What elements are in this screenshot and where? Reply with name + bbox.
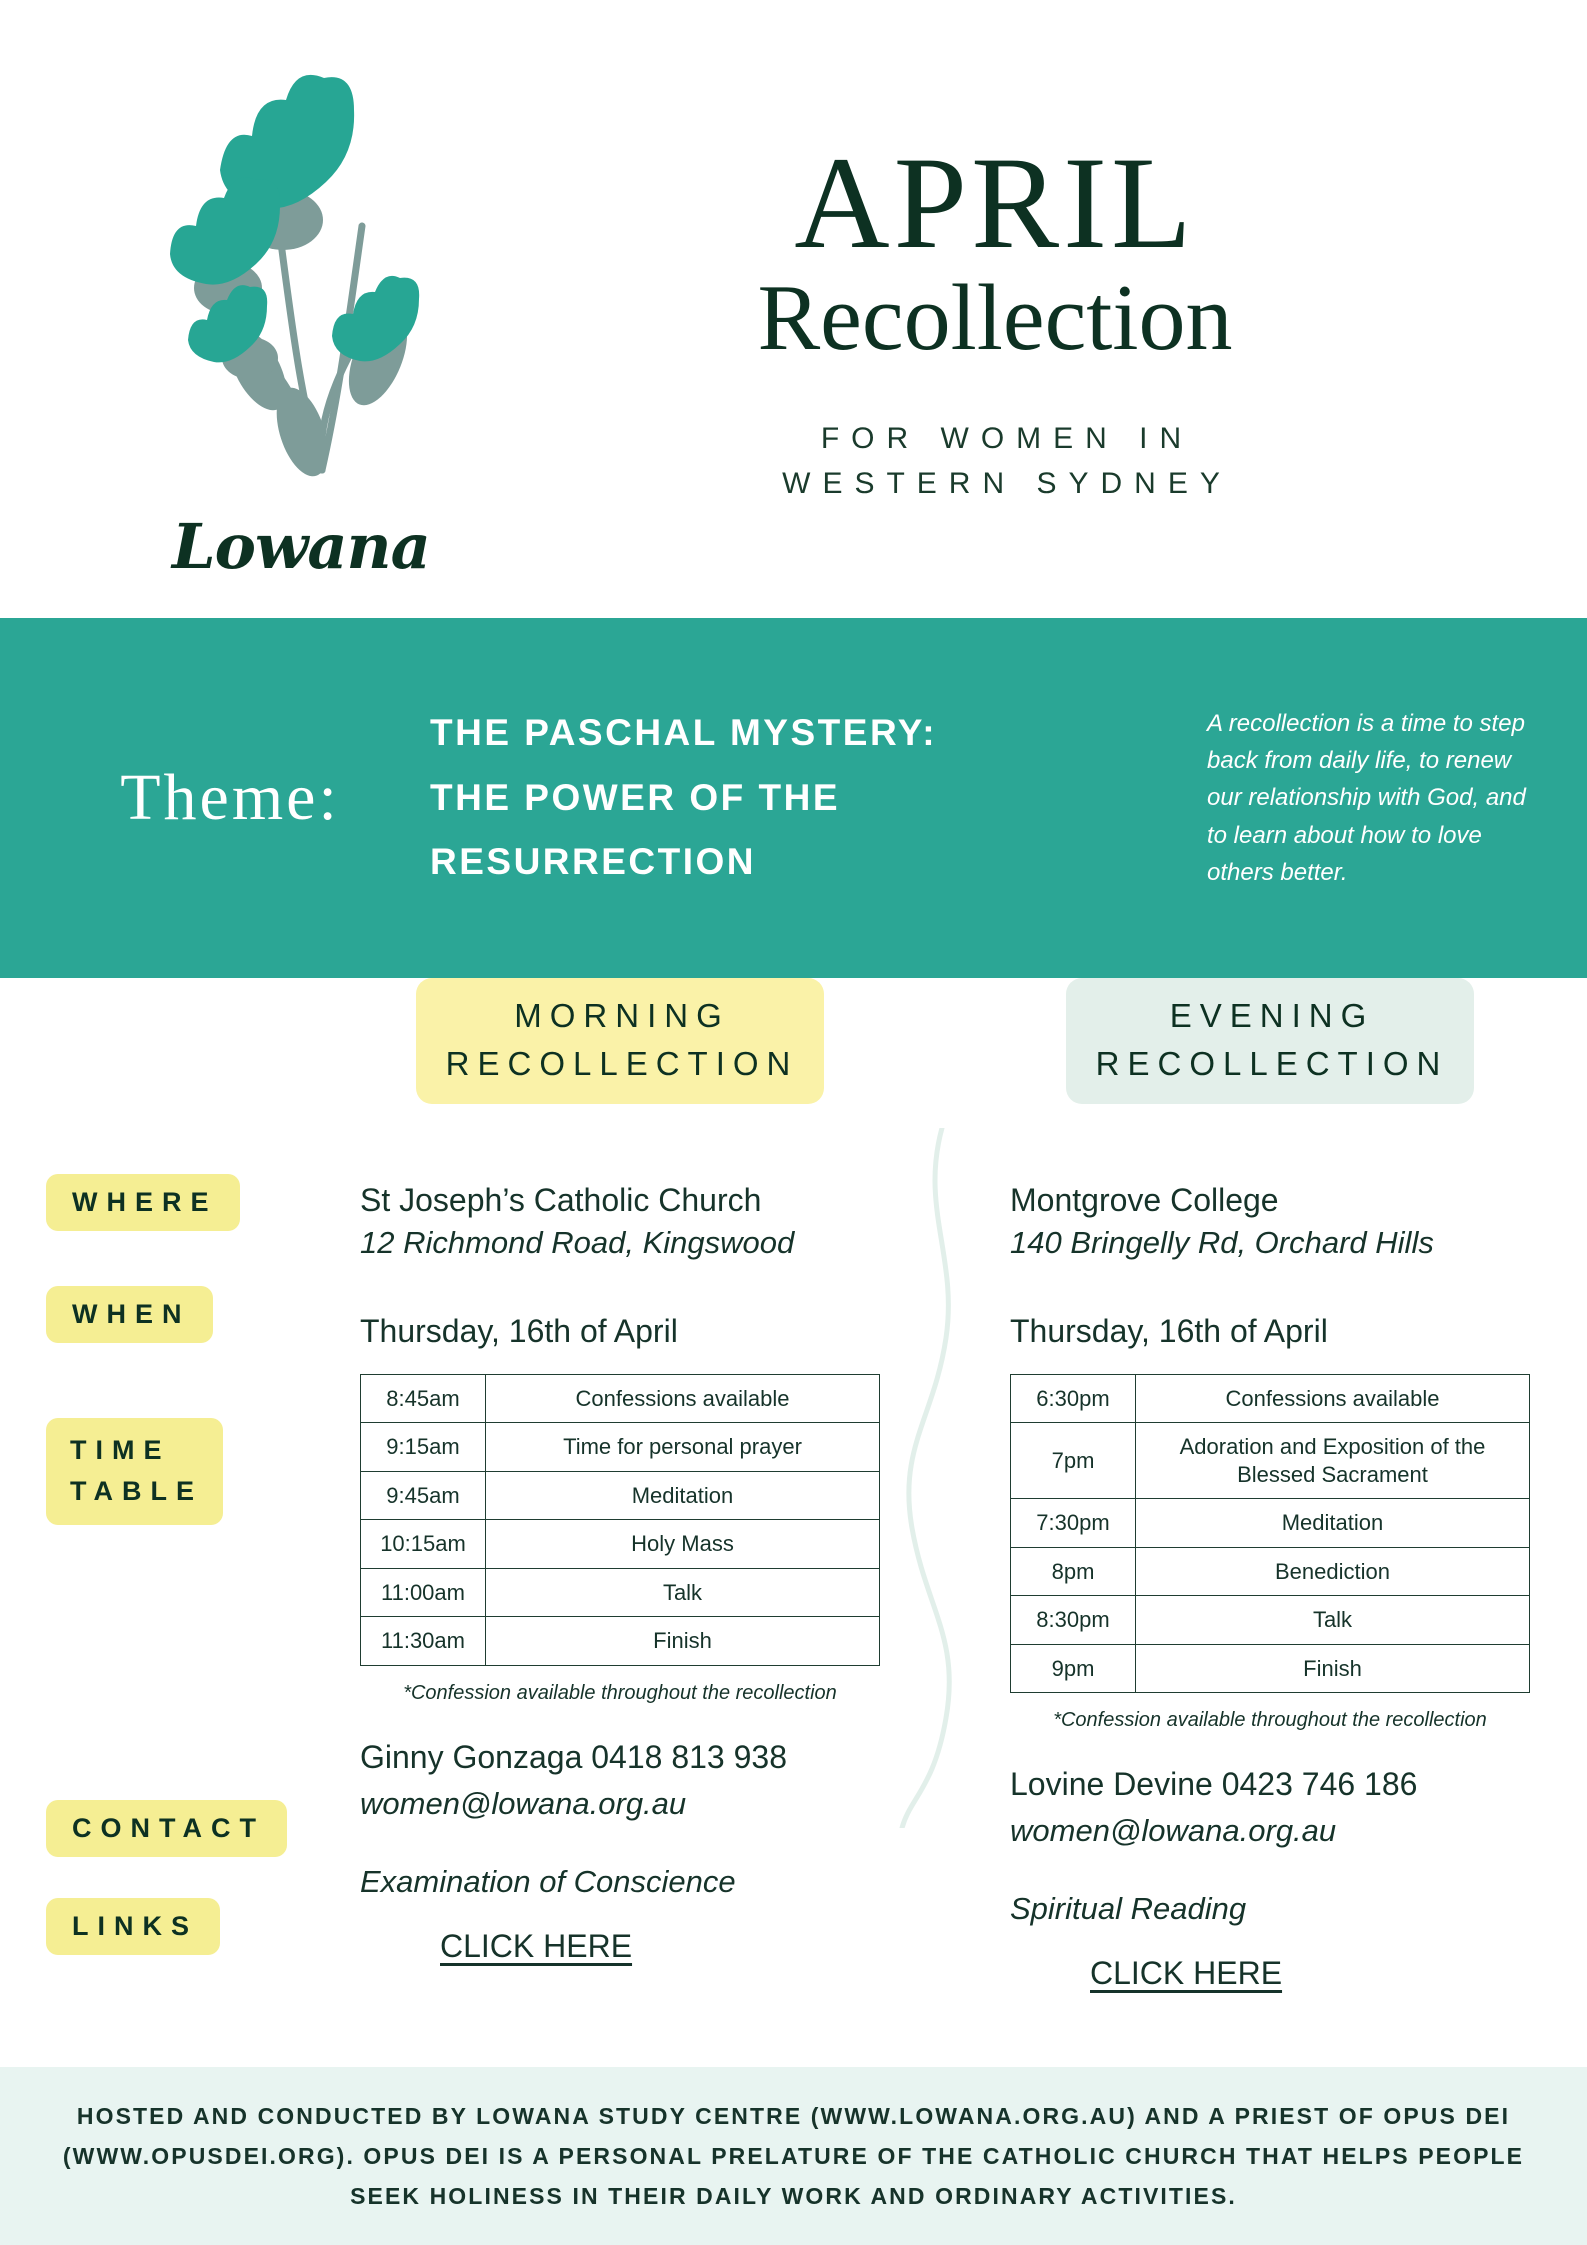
label-contact: CONTACT bbox=[46, 1800, 287, 1857]
evening-activity-2: Meditation bbox=[1136, 1499, 1530, 1548]
morning-time-1: 9:15am bbox=[361, 1423, 486, 1472]
morning-activity-3: Holy Mass bbox=[486, 1520, 880, 1569]
sessions-section: WHERE WHEN TIME TABLE CONTACT LINKS MORN… bbox=[0, 978, 1587, 2178]
morning-activity-4: Talk bbox=[486, 1568, 880, 1617]
flower-illustration-icon bbox=[150, 40, 480, 510]
evening-contact-name: Lovine Devine 0423 746 186 bbox=[1010, 1766, 1540, 1803]
label-links: LINKS bbox=[46, 1898, 220, 1955]
evening-confession-note: *Confession available throughout the rec… bbox=[1010, 1709, 1530, 1732]
evening-schedule-body: 6:30pmConfessions available 7pmAdoration… bbox=[1011, 1374, 1530, 1693]
evening-time-2: 7:30pm bbox=[1011, 1499, 1136, 1548]
table-row: 8pmBenediction bbox=[1011, 1547, 1530, 1596]
poster-root: Lowana APRIL Recollection FOR WOMEN IN W… bbox=[0, 0, 1587, 2245]
morning-schedule-table: 8:45amConfessions available 9:15amTime f… bbox=[360, 1374, 880, 1666]
table-row: 8:30pmTalk bbox=[1011, 1596, 1530, 1645]
morning-time-5: 11:30am bbox=[361, 1617, 486, 1666]
table-row: 11:00amTalk bbox=[361, 1568, 880, 1617]
session-badge-evening-line-1: EVENING bbox=[1096, 992, 1449, 1040]
table-row: 8:45amConfessions available bbox=[361, 1374, 880, 1423]
evening-time-5: 9pm bbox=[1011, 1644, 1136, 1693]
morning-activity-0: Confessions available bbox=[486, 1374, 880, 1423]
label-timetable: TIME TABLE bbox=[46, 1418, 223, 1525]
label-timetable-line-1: TIME bbox=[70, 1430, 203, 1471]
morning-activity-2: Meditation bbox=[486, 1471, 880, 1520]
morning-contact-email[interactable]: women@lowana.org.au bbox=[360, 1786, 890, 1822]
session-badge-evening-line-2: RECOLLECTION bbox=[1096, 1040, 1449, 1088]
morning-activity-5: Finish bbox=[486, 1617, 880, 1666]
title-month: APRIL bbox=[560, 140, 1430, 265]
evening-time-3: 8pm bbox=[1011, 1547, 1136, 1596]
poster-footer: HOSTED AND CONDUCTED BY LOWANA STUDY CEN… bbox=[0, 2067, 1587, 2245]
theme-title-line-2: THE POWER OF THE bbox=[430, 766, 1177, 831]
morning-time-2: 9:45am bbox=[361, 1471, 486, 1520]
lowana-logo-block: Lowana bbox=[150, 40, 510, 600]
theme-label: Theme: bbox=[40, 760, 420, 836]
evening-activity-0: Confessions available bbox=[1136, 1374, 1530, 1423]
morning-body: St Joseph’s Catholic Church 12 Richmond … bbox=[350, 1182, 890, 1965]
session-columns: MORNING RECOLLECTION St Joseph’s Catholi… bbox=[330, 978, 1587, 1992]
session-badge-evening: EVENING RECOLLECTION bbox=[1066, 978, 1475, 1104]
footer-text: HOSTED AND CONDUCTED BY LOWANA STUDY CEN… bbox=[44, 2096, 1544, 2217]
morning-link-title: Examination of Conscience bbox=[360, 1864, 890, 1900]
morning-activity-1: Time for personal prayer bbox=[486, 1423, 880, 1472]
evening-time-0: 6:30pm bbox=[1011, 1374, 1136, 1423]
theme-title: THE PASCHAL MYSTERY: THE POWER OF THE RE… bbox=[420, 701, 1207, 895]
evening-date: Thursday, 16th of April bbox=[1010, 1313, 1540, 1350]
table-row: 7:30pmMeditation bbox=[1011, 1499, 1530, 1548]
evening-contact-email[interactable]: women@lowana.org.au bbox=[1010, 1813, 1540, 1849]
session-column-evening: EVENING RECOLLECTION Montgrove College 1… bbox=[1000, 978, 1540, 1992]
session-column-morning: MORNING RECOLLECTION St Joseph’s Catholi… bbox=[350, 978, 890, 1992]
evening-activity-5: Finish bbox=[1136, 1644, 1530, 1693]
table-row: 10:15amHoly Mass bbox=[361, 1520, 880, 1569]
table-row: 9pmFinish bbox=[1011, 1644, 1530, 1693]
theme-title-line-3: RESURRECTION bbox=[430, 830, 1177, 895]
morning-schedule-body: 8:45amConfessions available 9:15amTime f… bbox=[361, 1374, 880, 1665]
morning-confession-note: *Confession available throughout the rec… bbox=[360, 1682, 880, 1705]
morning-contact-name: Ginny Gonzaga 0418 813 938 bbox=[360, 1739, 890, 1776]
label-when: WHEN bbox=[46, 1286, 213, 1343]
evening-activity-3: Benediction bbox=[1136, 1547, 1530, 1596]
morning-venue-name: St Joseph’s Catholic Church bbox=[360, 1182, 890, 1219]
evening-time-4: 8:30pm bbox=[1011, 1596, 1136, 1645]
session-badge-morning-line-2: RECOLLECTION bbox=[446, 1040, 799, 1088]
evening-venue-name: Montgrove College bbox=[1010, 1182, 1540, 1219]
morning-link-cta[interactable]: CLICK HERE bbox=[440, 1928, 632, 1965]
evening-time-1: 7pm bbox=[1011, 1423, 1136, 1499]
morning-time-4: 11:00am bbox=[361, 1568, 486, 1617]
morning-venue-address: 12 Richmond Road, Kingswood bbox=[360, 1225, 890, 1261]
subtitle-line-1: FOR WOMEN IN bbox=[584, 416, 1430, 461]
session-badge-morning: MORNING RECOLLECTION bbox=[416, 978, 825, 1104]
poster-header: Lowana APRIL Recollection FOR WOMEN IN W… bbox=[0, 0, 1587, 618]
morning-time-3: 10:15am bbox=[361, 1520, 486, 1569]
table-row: 6:30pmConfessions available bbox=[1011, 1374, 1530, 1423]
table-row: 9:15amTime for personal prayer bbox=[361, 1423, 880, 1472]
theme-title-line-1: THE PASCHAL MYSTERY: bbox=[430, 701, 1177, 766]
theme-banner: Theme: THE PASCHAL MYSTERY: THE POWER OF… bbox=[0, 618, 1587, 978]
label-where: WHERE bbox=[46, 1174, 240, 1231]
evening-body: Montgrove College 140 Bringelly Rd, Orch… bbox=[1000, 1182, 1540, 1993]
evening-link-cta[interactable]: CLICK HERE bbox=[1090, 1955, 1282, 1992]
evening-schedule-table: 6:30pmConfessions available 7pmAdoration… bbox=[1010, 1374, 1530, 1694]
table-row: 7pmAdoration and Exposition of the Bless… bbox=[1011, 1423, 1530, 1499]
morning-date: Thursday, 16th of April bbox=[360, 1313, 890, 1350]
subtitle-line-2: WESTERN SYDNEY bbox=[584, 461, 1430, 506]
evening-badge-wrap: EVENING RECOLLECTION bbox=[1000, 978, 1540, 1104]
session-badge-morning-line-1: MORNING bbox=[446, 992, 799, 1040]
label-timetable-line-2: TABLE bbox=[70, 1471, 203, 1512]
lowana-wordmark: Lowana bbox=[172, 510, 430, 583]
evening-activity-4: Talk bbox=[1136, 1596, 1530, 1645]
poster-title-block: APRIL Recollection FOR WOMEN IN WESTERN … bbox=[560, 140, 1430, 506]
evening-link-title: Spiritual Reading bbox=[1010, 1891, 1540, 1927]
table-row: 9:45amMeditation bbox=[361, 1471, 880, 1520]
theme-description: A recollection is a time to step back fr… bbox=[1207, 705, 1547, 891]
poster-subtitle: FOR WOMEN IN WESTERN SYDNEY bbox=[560, 416, 1430, 506]
title-type: Recollection bbox=[560, 269, 1430, 368]
morning-badge-wrap: MORNING RECOLLECTION bbox=[350, 978, 890, 1104]
evening-venue-address: 140 Bringelly Rd, Orchard Hills bbox=[1010, 1225, 1540, 1261]
evening-activity-1: Adoration and Exposition of the Blessed … bbox=[1136, 1423, 1530, 1499]
morning-time-0: 8:45am bbox=[361, 1374, 486, 1423]
table-row: 11:30amFinish bbox=[361, 1617, 880, 1666]
